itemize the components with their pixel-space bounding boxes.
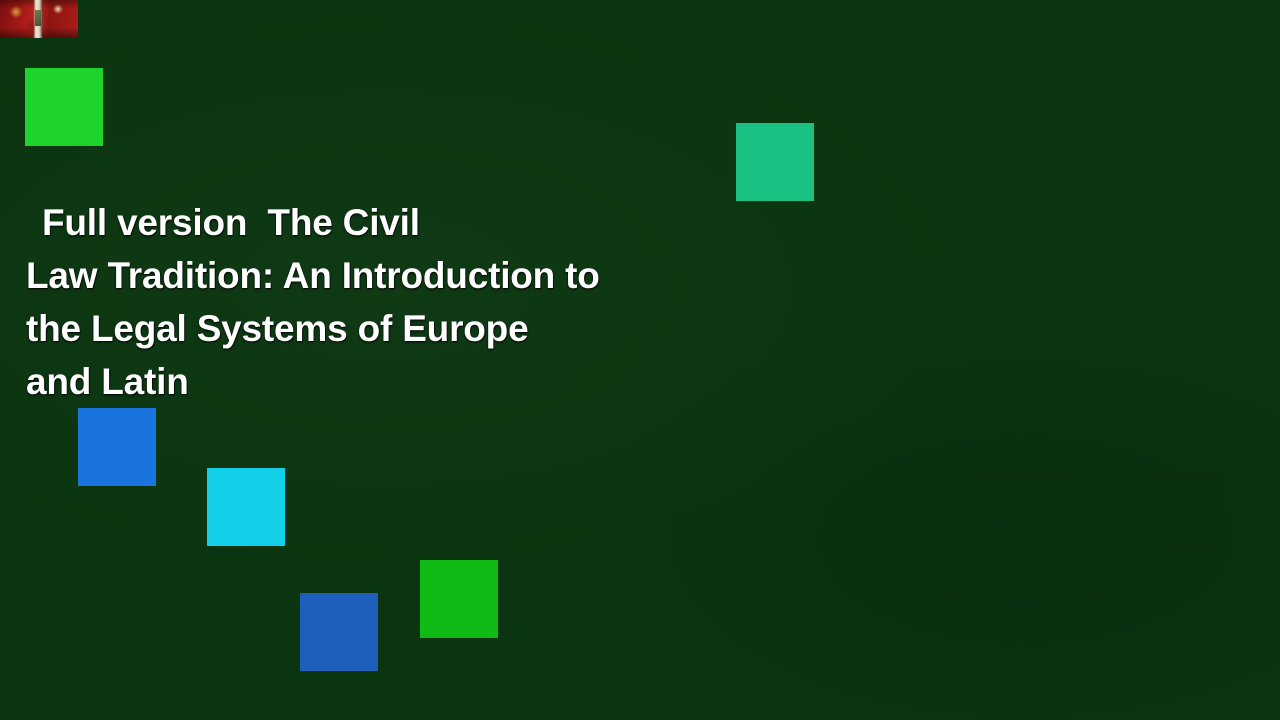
- book-cover-thumbnail-fragment: [0, 0, 78, 38]
- square-green-mid: [420, 560, 498, 638]
- square-blue-deep: [300, 593, 378, 671]
- title-line-2: Law Tradition: An Introduction to: [26, 249, 886, 302]
- title-text-block: Full version The Civil Law Tradition: An…: [26, 196, 886, 408]
- book-spine-label: [35, 10, 41, 26]
- square-cyan: [207, 468, 285, 546]
- video-frame: Full version The Civil Law Tradition: An…: [0, 0, 1280, 720]
- square-green-bright: [25, 68, 103, 146]
- square-emerald: [736, 123, 814, 201]
- title-line-1: Full version The Civil: [26, 196, 886, 249]
- square-blue-azure: [78, 408, 156, 486]
- title-line-3: the Legal Systems of Europe: [26, 302, 886, 355]
- square-green-dark: [1145, 472, 1225, 552]
- title-line-4: and Latin: [26, 355, 886, 408]
